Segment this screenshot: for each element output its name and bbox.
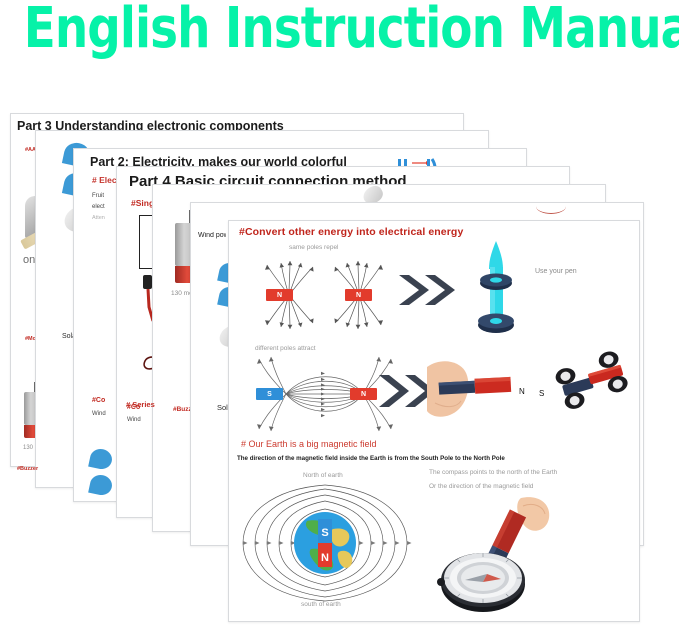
pen-magnet-svg bbox=[473, 239, 519, 335]
earth-magnetic-field-diagram: S N bbox=[237, 479, 413, 609]
earth-south-label: south of earth bbox=[301, 601, 341, 608]
pen-with-magnets-illustration bbox=[473, 239, 519, 335]
svg-text:S: S bbox=[321, 527, 328, 539]
earth-section-subtitle: The direction of the magnetic field insi… bbox=[237, 455, 505, 462]
compass-with-magnet-illustration: S bbox=[435, 496, 585, 616]
card-front[interactable]: #Convert other energy into electrical en… bbox=[228, 220, 640, 622]
petal-icon-3 bbox=[88, 447, 114, 471]
card-part2-label-elect: elect bbox=[92, 204, 105, 210]
compass-magnet-svg: S bbox=[435, 496, 585, 616]
pen-label: Use your pen bbox=[535, 268, 577, 275]
chevron-right-icon-1 bbox=[397, 273, 459, 307]
arc-decoration bbox=[536, 202, 566, 214]
card-part2-label-atten: Atten bbox=[92, 215, 105, 221]
card-part2-label-wind: Wind bbox=[92, 411, 106, 417]
earth-field-svg: S N bbox=[237, 479, 413, 609]
card-part4-series-label: # Series bbox=[126, 400, 155, 409]
petal-icon-4 bbox=[88, 473, 114, 497]
car-magnet-pole-label: S bbox=[539, 389, 544, 398]
magnet-attract-right: N bbox=[350, 388, 377, 400]
earth-north-label: North of earth bbox=[303, 472, 343, 479]
hand-magnet-pole-label: N bbox=[519, 387, 525, 396]
caption-same-poles-repel: same poles repel bbox=[289, 244, 339, 251]
earth-section-title: # Our Earth is a big magnetic field bbox=[241, 439, 377, 449]
compass-caption-line2: Or the direction of the magnetic field bbox=[429, 483, 533, 490]
card-part2-label-fruit: Fruit bbox=[92, 193, 104, 199]
card-part3-label-buzzer: #Buzzer bbox=[17, 466, 38, 472]
caption-different-poles-attract: different poles attract bbox=[255, 345, 316, 352]
chevron-pair-svg-1 bbox=[397, 273, 459, 307]
page-title: English Instruction Manual bbox=[24, 0, 655, 62]
compass-caption-line1: The compass points to the north of the E… bbox=[429, 469, 557, 476]
magnet-attract-left: S bbox=[256, 388, 283, 400]
hand-magnet-svg bbox=[425, 359, 515, 421]
magnet-repel-right: N bbox=[345, 289, 372, 301]
front-card-wind-label: Wind power bbox=[198, 232, 226, 239]
hand-holding-magnet-illustration bbox=[425, 359, 515, 421]
toy-car-svg bbox=[551, 355, 635, 417]
page-root: English Instruction Manual Part 3 Unders… bbox=[0, 0, 679, 627]
card-part2-section-co: #Co bbox=[92, 397, 105, 404]
card-part3-label-on: on bbox=[23, 254, 35, 266]
svg-text:N: N bbox=[321, 552, 329, 564]
front-card-heading: #Convert other energy into electrical en… bbox=[239, 226, 463, 238]
magnet-repel-left: N bbox=[266, 289, 293, 301]
card-part4-label-wind: Wind bbox=[127, 417, 141, 423]
toy-car-illustration bbox=[551, 355, 635, 417]
